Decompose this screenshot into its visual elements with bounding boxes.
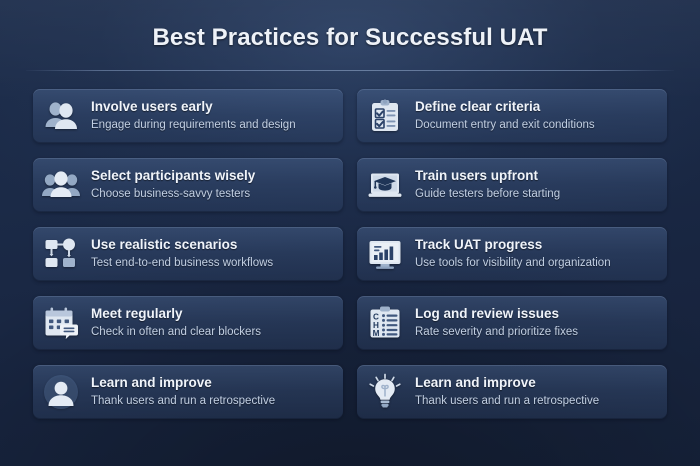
- card-text: Involve users early Engage during requir…: [91, 99, 296, 132]
- card-text: Log and review issues Rate severity and …: [415, 306, 578, 339]
- clipboard-severity-icon: C H M: [366, 304, 404, 342]
- card-text: Learn and improve Thank users and run a …: [91, 375, 275, 408]
- practice-card-meet-regularly[interactable]: Meet regularly Check in often and clear …: [33, 296, 343, 350]
- card-text: Train users upfront Guide testers before…: [415, 168, 560, 201]
- card-title: Learn and improve: [415, 375, 599, 392]
- two-users-icon: [42, 97, 80, 135]
- card-subtitle: Thank users and run a retrospective: [91, 394, 275, 408]
- card-text: Select participants wisely Choose busine…: [91, 168, 255, 201]
- practice-card-log-and-review-issues[interactable]: C H M Log and review issues Rate severit…: [357, 296, 667, 350]
- practice-card-train-users-upfront[interactable]: Train users upfront Guide testers before…: [357, 158, 667, 212]
- card-title: Track UAT progress: [415, 237, 611, 254]
- card-title: Log and review issues: [415, 306, 578, 323]
- card-subtitle: Use tools for visibility and organizatio…: [415, 256, 611, 270]
- severity-label-m: M: [373, 329, 380, 338]
- slide-canvas: Best Practices for Successful UAT Involv…: [0, 0, 700, 466]
- card-subtitle: Guide testers before starting: [415, 187, 560, 201]
- page-title: Best Practices for Successful UAT: [0, 24, 700, 52]
- card-title: Train users upfront: [415, 168, 560, 185]
- card-text: Learn and improve Thank users and run a …: [415, 375, 599, 408]
- flowchart-icon: [42, 235, 80, 273]
- card-subtitle: Rate severity and prioritize fixes: [415, 325, 578, 339]
- card-text: Use realistic scenarios Test end-to-end …: [91, 237, 273, 270]
- practice-card-use-realistic-scenarios[interactable]: Use realistic scenarios Test end-to-end …: [33, 227, 343, 281]
- practice-card-involve-users-early[interactable]: Involve users early Engage during requir…: [33, 89, 343, 143]
- card-title: Meet regularly: [91, 306, 261, 323]
- card-subtitle: Thank users and run a retrospective: [415, 394, 599, 408]
- practice-card-select-participants-wisely[interactable]: Select participants wisely Choose busine…: [33, 158, 343, 212]
- card-text: Track UAT progress Use tools for visibil…: [415, 237, 611, 270]
- card-text: Meet regularly Check in often and clear …: [91, 306, 261, 339]
- card-title: Select participants wisely: [91, 168, 255, 185]
- card-subtitle: Document entry and exit conditions: [415, 118, 595, 132]
- card-subtitle: Engage during requirements and design: [91, 118, 296, 132]
- practices-grid: Involve users early Engage during requir…: [33, 89, 667, 419]
- card-title: Use realistic scenarios: [91, 237, 273, 254]
- lightbulb-icon: [366, 373, 404, 411]
- practice-card-define-clear-criteria[interactable]: Define clear criteria Document entry and…: [357, 89, 667, 143]
- practice-card-track-uat-progress[interactable]: Track UAT progress Use tools for visibil…: [357, 227, 667, 281]
- three-users-group-icon: [42, 166, 80, 204]
- user-circle-icon: [42, 373, 80, 411]
- card-title: Involve users early: [91, 99, 296, 116]
- card-title: Define clear criteria: [415, 99, 595, 116]
- card-subtitle: Check in often and clear blockers: [91, 325, 261, 339]
- clipboard-check-icon: [366, 97, 404, 135]
- calendar-chat-icon: [42, 304, 80, 342]
- graduation-cap-laptop-icon: [366, 166, 404, 204]
- card-subtitle: Choose business-savvy testers: [91, 187, 255, 201]
- practice-card-learn-and-improve-idea[interactable]: Learn and improve Thank users and run a …: [357, 365, 667, 419]
- card-text: Define clear criteria Document entry and…: [415, 99, 595, 132]
- card-title: Learn and improve: [91, 375, 275, 392]
- title-divider: [26, 70, 674, 71]
- practice-card-learn-and-improve-user[interactable]: Learn and improve Thank users and run a …: [33, 365, 343, 419]
- card-subtitle: Test end-to-end business workflows: [91, 256, 273, 270]
- bar-chart-monitor-icon: [366, 235, 404, 273]
